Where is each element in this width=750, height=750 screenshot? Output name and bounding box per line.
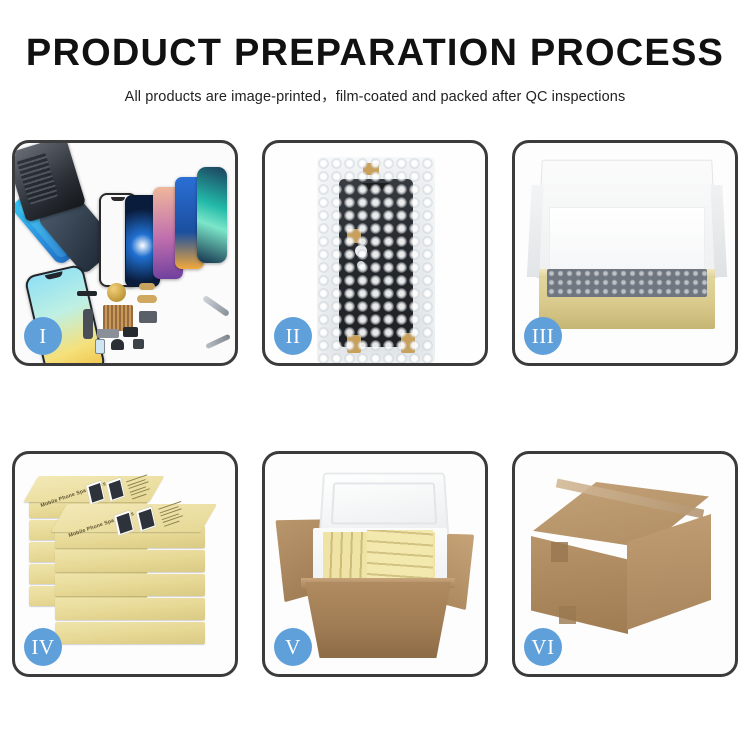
- foam-cooler-lid-icon: [319, 473, 449, 536]
- process-step-panel-6: VI: [512, 451, 738, 677]
- tweezers-icon: [202, 295, 230, 317]
- page-subtitle: All products are image-printed，film-coat…: [0, 85, 750, 106]
- teal-wave-phone-icon: [197, 167, 227, 263]
- carton-body-icon: [305, 582, 451, 658]
- retail-boxes-inside: [367, 530, 433, 584]
- process-step-panel-5: V: [262, 451, 488, 677]
- part-icon: [83, 309, 93, 339]
- step-badge-1: I: [24, 317, 62, 355]
- page-header: PRODUCT PREPARATION PROCESS All products…: [0, 0, 750, 106]
- part-icon: [111, 339, 124, 350]
- part-icon: [97, 329, 119, 338]
- step-badge-4: IV: [24, 628, 62, 666]
- process-step-panel-4: Mobile Phone Spare Parts Mobile Phone Sp…: [12, 451, 238, 677]
- part-icon: [139, 311, 157, 323]
- page-title: PRODUCT PREPARATION PROCESS: [0, 34, 750, 72]
- bubble-texture: [317, 157, 435, 363]
- part-icon: [133, 339, 144, 349]
- step-badge-5: V: [274, 628, 312, 666]
- process-step-panel-2: II: [262, 140, 488, 366]
- carton-left-face: [531, 536, 628, 634]
- process-step-panel-3: III: [512, 140, 738, 366]
- part-icon: [95, 339, 105, 354]
- part-icon: [77, 291, 97, 296]
- packing-tape-icon: [559, 606, 576, 624]
- part-icon: [123, 327, 138, 337]
- step-badge-2: II: [274, 317, 312, 355]
- retail-box: [55, 622, 205, 644]
- screwdriver-icon: [205, 334, 231, 350]
- speaker-coil-icon: [107, 283, 126, 302]
- process-steps-grid: I II: [12, 140, 738, 677]
- retail-box: [55, 574, 205, 596]
- process-step-panel-1: I: [12, 140, 238, 366]
- retail-box: [55, 550, 205, 572]
- packing-tape-icon: [551, 542, 568, 562]
- step-badge-3: III: [524, 317, 562, 355]
- part-icon: [137, 295, 157, 303]
- step-badge-6: VI: [524, 628, 562, 666]
- product-preparation-process-page: PRODUCT PREPARATION PROCESS All products…: [0, 0, 750, 750]
- bubble-padding-icon: [547, 269, 707, 297]
- part-icon: [139, 283, 155, 290]
- retail-box: [55, 598, 205, 620]
- bubble-wrap-bag: [317, 157, 435, 363]
